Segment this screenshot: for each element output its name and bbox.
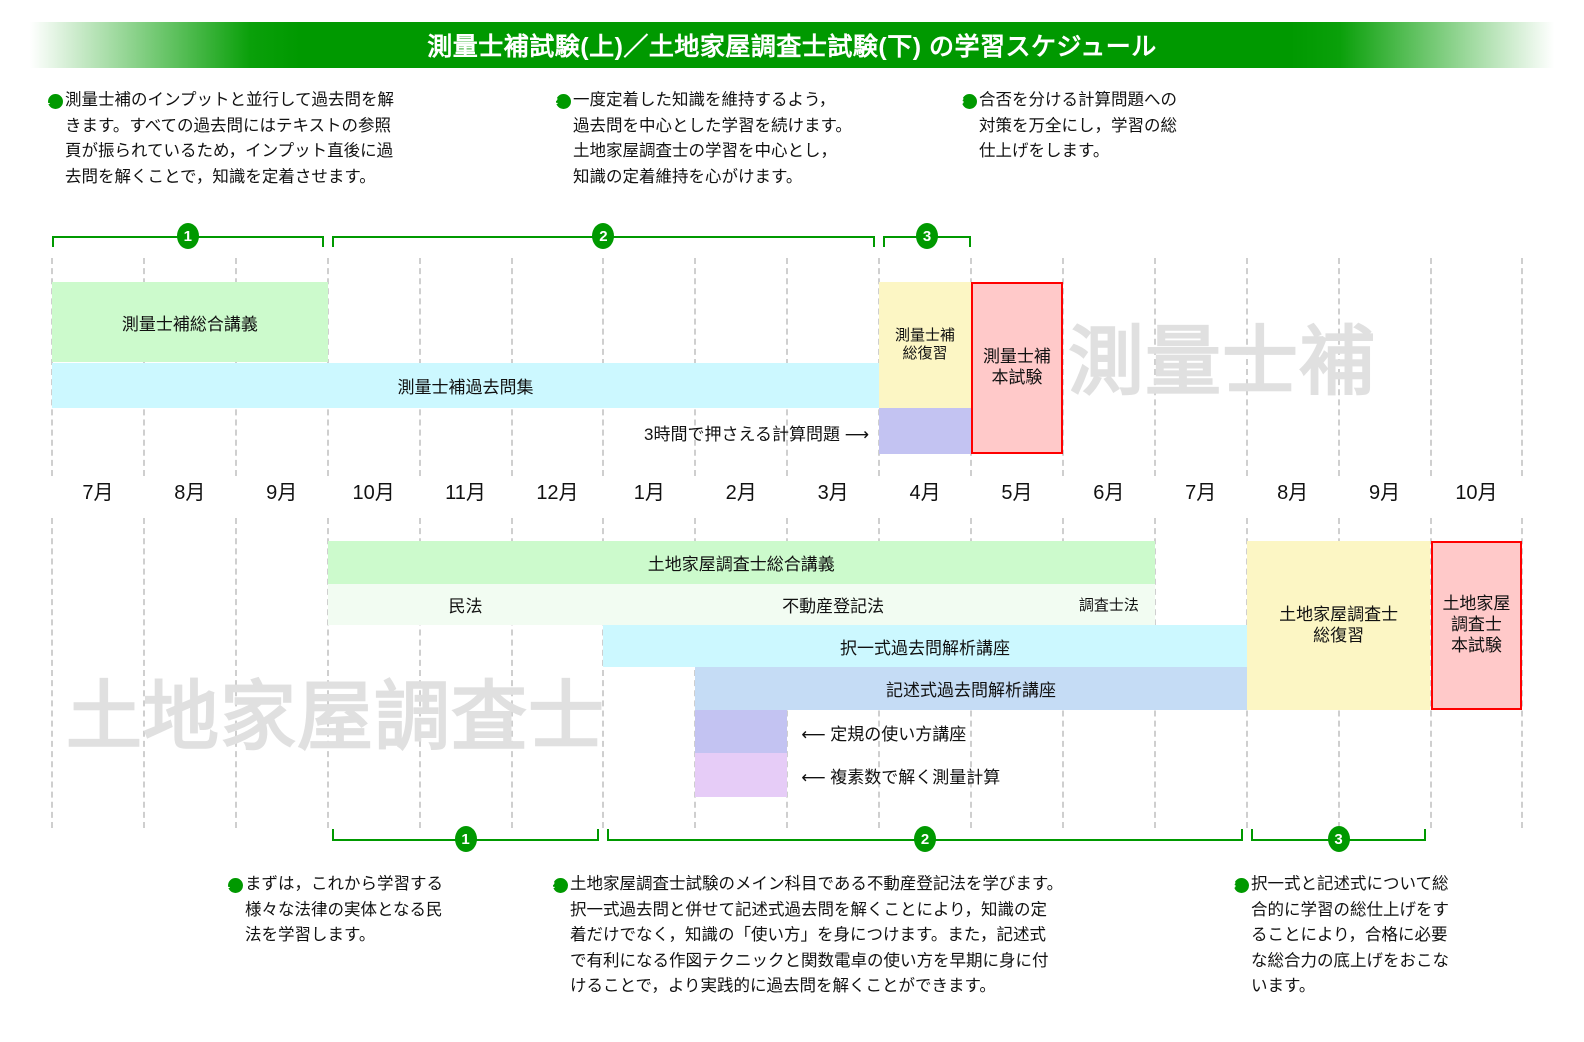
gridline-top [878, 258, 880, 476]
title-banner: 測量士補試験(上)／土地家屋調査士試験(下) の学習スケジュール [0, 22, 1584, 68]
bottom-note-2-line-4: で有利になる作図テクニックと関数電卓の使い方を早期に身に付 [553, 949, 1223, 975]
gridline-top [419, 258, 421, 476]
bar-sokuryou-honshiken: 測量士補本試験 [971, 282, 1063, 454]
bottom-note-3-line-5: います。 [1234, 974, 1544, 1000]
bottom-note-1-line-2: 様々な法律の実体となる民 [228, 898, 528, 924]
label-jougi: ⟵ 定規の使い方講座 [801, 720, 966, 745]
gridline-bottom [786, 518, 788, 828]
gridline-top [511, 258, 513, 476]
gridline-bottom [327, 518, 329, 828]
bar-takuitsushiki-kakomon: 択一式過去問解析講座 [603, 625, 1246, 667]
top-note-2-line-2: 過去問を中心とした学習を続けます。 [556, 114, 956, 140]
gridline-bottom [1062, 518, 1064, 828]
gridline-top [1154, 258, 1156, 476]
month-label-12: 6月 [1063, 476, 1155, 505]
gridline-top [1062, 258, 1064, 476]
bracket-top-3 [883, 236, 971, 250]
month-label-11: 5月 [971, 476, 1063, 505]
bracket-top-1 [52, 236, 324, 250]
gridline-bottom [602, 518, 604, 828]
badge-number-icon: 1 [228, 878, 243, 893]
bracket-top-2 [332, 236, 875, 250]
gridline-bottom [1246, 518, 1248, 828]
gridline-top [970, 258, 972, 476]
top-note-1: 1測量士補のインプットと並行して過去問を解 きます。すべての過去問にはテキストの… [48, 88, 538, 190]
bottom-note-3-line-2: 合的に学習の総仕上げをす [1234, 898, 1544, 924]
gridline-top [786, 258, 788, 476]
bottom-note-1-line-1: 1まずは，これから学習する [228, 872, 528, 898]
bracket-number-3: 3 [916, 223, 938, 249]
bottom-note-1-line-3: 法を学習します。 [228, 923, 528, 949]
bottom-note-3: 3択一式と記述式について総 合的に学習の総仕上げをす ることにより，合格に必要 … [1234, 872, 1544, 1000]
label-3jikan-keisan: 3時間で押さえる計算問題 ⟶ [559, 420, 869, 445]
month-label-9: 3月 [787, 476, 879, 505]
gridline-top [1521, 258, 1523, 476]
bar-fukusosuu-sokuryou [695, 753, 787, 797]
gridline-top [235, 258, 237, 476]
top-note-3-line-2: 対策を万全にし，学習の総 [962, 114, 1262, 140]
watermark-chousashi: 土地家屋調査士 [66, 655, 605, 765]
gridline-bottom [1430, 518, 1432, 828]
bar-minpou: 民法 [328, 584, 604, 625]
month-label-7: 1月 [603, 476, 695, 505]
bottom-note-2: 2土地家屋調査士試験のメイン科目である不動産登記法を学びます。 択一式過去問と併… [553, 872, 1223, 1000]
gridline-top [1430, 258, 1432, 476]
badge-number-icon: 3 [962, 94, 977, 109]
gridline-bottom [878, 518, 880, 828]
bar-chousashi-sougou-kougi: 土地家屋調査士総合講義 [328, 541, 1155, 584]
top-note-2: 2一度定着した知識を維持するよう， 過去問を中心とした学習を続けます。 土地家屋… [556, 88, 956, 190]
gridline-top [1338, 258, 1340, 476]
gridline-bottom [419, 518, 421, 828]
bracket-bottom-3 [1251, 827, 1427, 841]
gridline-bottom [694, 518, 696, 828]
month-label-14: 8月 [1247, 476, 1339, 505]
bracket-bottom-2 [607, 827, 1242, 841]
bar-3jikan-keisan [879, 408, 971, 454]
top-note-2-line-3: 土地家屋調査士の学習を中心とし， [556, 139, 956, 165]
month-label-4: 10月 [328, 476, 420, 505]
bar-sokuryou-kakomonshuu: 測量士補過去問集 [52, 363, 879, 408]
bracket-number-1: 1 [177, 223, 199, 249]
top-note-1-line-4: 去問を解くことで，知識を定着させます。 [48, 165, 538, 191]
gridline-top [51, 258, 53, 476]
gridline-top [143, 258, 145, 476]
month-label-8: 2月 [695, 476, 787, 505]
label-fukusosuu: ⟵ 複素数で解く測量計算 [801, 763, 1000, 788]
top-note-3: 3合否を分ける計算問題への 対策を万全にし，学習の総 仕上げをします。 [962, 88, 1262, 165]
month-label-1: 7月 [52, 476, 144, 505]
bar-chousashihou: 調査士法 [1063, 584, 1155, 625]
top-note-1-line-2: きます。すべての過去問にはテキストの参照 [48, 114, 538, 140]
top-note-2-line-1: 2一度定着した知識を維持するよう， [556, 88, 956, 114]
gridline-bottom [51, 518, 53, 828]
badge-number-icon: 3 [1234, 878, 1249, 893]
month-label-16: 10月 [1431, 476, 1523, 505]
month-label-2: 8月 [144, 476, 236, 505]
bracket-number-2: 2 [914, 826, 936, 852]
bracket-bottom-1 [332, 827, 600, 841]
month-label-6: 12月 [512, 476, 604, 505]
bracket-number-3: 3 [1328, 826, 1350, 852]
bottom-note-2-line-5: けることで，より実践的に過去問を解くことができます。 [553, 974, 1223, 1000]
top-note-1-line-3: 頁が振られているため，インプット直後に過 [48, 139, 538, 165]
top-note-3-line-3: 仕上げをします。 [962, 139, 1262, 165]
bar-sokuryou-soufukushuu: 測量士補総復習 [879, 282, 971, 408]
badge-number-icon: 2 [556, 94, 571, 109]
badge-number-icon: 1 [48, 94, 63, 109]
bottom-note-3-line-1: 3択一式と記述式について総 [1234, 872, 1544, 898]
bottom-note-2-line-3: 着だけでなく，知識の「使い方」を身につけます。また，記述式 [553, 923, 1223, 949]
gridline-bottom [1154, 518, 1156, 828]
watermark-sokuryoushiho: 測量士補 [1068, 300, 1376, 410]
gridline-bottom [970, 518, 972, 828]
month-label-13: 7月 [1155, 476, 1247, 505]
top-note-3-line-1: 3合否を分ける計算問題への [962, 88, 1262, 114]
bar-jougi-tsukaikata [695, 710, 787, 753]
top-note-2-line-4: 知識の定着維持を心がけます。 [556, 165, 956, 191]
bracket-number-2: 2 [592, 223, 614, 249]
month-label-3: 9月 [236, 476, 328, 505]
bar-kijutsushiki-kakomon: 記述式過去問解析講座 [695, 667, 1246, 710]
gridline-top [327, 258, 329, 476]
badge-number-icon: 2 [553, 878, 568, 893]
bottom-note-2-line-2: 択一式過去問と併せて記述式過去問を解くことにより，知識の定 [553, 898, 1223, 924]
bar-sokuryou-sougou-kougi: 測量士補総合講義 [52, 282, 328, 362]
bar-chousashi-honshiken: 土地家屋調査士本試験 [1431, 541, 1523, 710]
month-label-15: 9月 [1339, 476, 1431, 505]
bracket-number-1: 1 [455, 826, 477, 852]
gridline-top [1246, 258, 1248, 476]
bar-chousashi-soufukushuu: 土地家屋調査士総復習 [1247, 541, 1431, 710]
bottom-note-3-line-3: ることにより，合格に必要 [1234, 923, 1544, 949]
gridline-top [694, 258, 696, 476]
month-label-5: 11月 [420, 476, 512, 505]
gridline-bottom [235, 518, 237, 828]
top-note-1-line-1: 1測量士補のインプットと並行して過去問を解 [48, 88, 538, 114]
gridline-bottom [1521, 518, 1523, 828]
gridline-top [602, 258, 604, 476]
gridline-bottom [143, 518, 145, 828]
bottom-note-1: 1まずは，これから学習する 様々な法律の実体となる民 法を学習します。 [228, 872, 528, 949]
bottom-note-2-line-1: 2土地家屋調査士試験のメイン科目である不動産登記法を学びます。 [553, 872, 1223, 898]
bottom-note-3-line-4: な総合力の底上げをおこな [1234, 949, 1544, 975]
month-label-10: 4月 [879, 476, 971, 505]
gridline-bottom [1338, 518, 1340, 828]
gridline-bottom [511, 518, 513, 828]
bar-fudousan-toukihou: 不動産登記法 [603, 584, 1063, 625]
page-title: 測量士補試験(上)／土地家屋調査士試験(下) の学習スケジュール [427, 27, 1157, 63]
